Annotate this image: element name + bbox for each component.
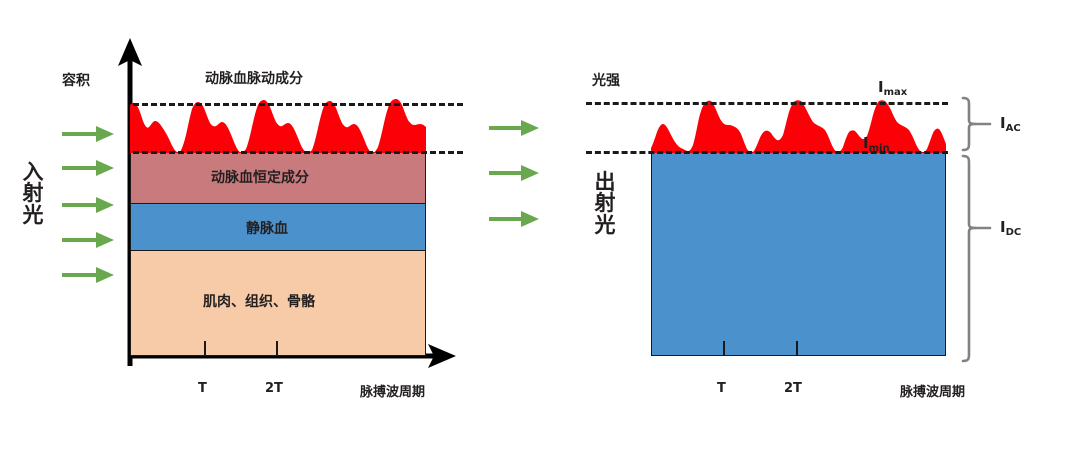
left-ticklabel-T: T <box>198 381 207 396</box>
incident-light-char-2: 射 <box>16 183 50 204</box>
layer-ac-intensity <box>651 100 946 153</box>
right-tick-T <box>723 341 725 355</box>
incident-light-label: 入 射 光 <box>16 162 50 226</box>
right-ticklabel-2T: 2T <box>784 381 802 396</box>
tissue-bone-label: 肌肉、组织、骨骼 <box>203 291 315 311</box>
transmitted-arrow-2 <box>489 165 539 181</box>
emitted-light-label: 出 射 光 <box>588 172 622 236</box>
imin-label: Imin <box>863 134 890 152</box>
left-peak-dashed-line <box>133 103 463 106</box>
right-y-axis-title: 光强 <box>592 70 620 90</box>
imax-symbol: I <box>878 78 884 96</box>
transmitted-arrow-1 <box>489 120 539 136</box>
arterial-pulsatile-label: 动脉血脉动成分 <box>205 68 303 88</box>
left-y-axis-title: 容积 <box>62 70 90 90</box>
idc-symbol: I <box>1000 218 1006 236</box>
incident-arrow-2 <box>62 160 114 176</box>
right-intensity-panel: 出 射 光 光强 Imax Imin <box>560 0 1080 450</box>
incident-arrow-1 <box>62 126 114 142</box>
layer-arterial-pulsatile <box>130 99 426 153</box>
iac-label: IAC <box>1000 114 1021 132</box>
idc-label: IDC <box>1000 218 1021 236</box>
iac-symbol: I <box>1000 114 1006 132</box>
imin-symbol: I <box>863 134 869 152</box>
left-ticklabel-2T: 2T <box>265 381 283 396</box>
imax-dashed-line <box>586 102 948 105</box>
imin-subscript: min <box>869 143 890 154</box>
left-x-axis-title: 脉搏波周期 <box>360 381 425 400</box>
right-x-axis-title: 脉搏波周期 <box>900 381 965 400</box>
ppg-waveform-left <box>130 99 426 153</box>
iac-bracket <box>963 98 976 150</box>
layer-dc-intensity <box>651 152 946 356</box>
emitted-light-char-1: 出 <box>588 172 622 193</box>
ppg-waveform-right <box>651 100 946 153</box>
imin-dashed-line <box>586 151 948 154</box>
imax-label: Imax <box>878 78 907 96</box>
emitted-light-char-3: 光 <box>588 215 622 236</box>
arterial-steady-label: 动脉血恒定成分 <box>211 167 309 187</box>
left-volume-panel: 入 射 光 <box>0 0 500 450</box>
left-trough-dashed-line <box>133 151 463 154</box>
idc-subscript: DC <box>1006 227 1022 238</box>
right-ticklabel-T: T <box>717 381 726 396</box>
right-tick-2T <box>796 341 798 355</box>
left-tick-2T <box>276 341 278 355</box>
incident-arrow-5 <box>62 267 114 283</box>
idc-bracket <box>963 156 976 361</box>
venous-blood-label: 静脉血 <box>246 218 288 238</box>
emitted-light-char-2: 射 <box>588 193 622 214</box>
transmitted-arrow-3 <box>489 211 539 227</box>
incident-arrow-4 <box>62 232 114 248</box>
incident-arrow-3 <box>62 197 114 213</box>
iac-subscript: AC <box>1006 123 1021 134</box>
ppg-principle-figure: 入 射 光 <box>0 0 1080 450</box>
incident-light-char-3: 光 <box>16 205 50 226</box>
incident-light-char-1: 入 <box>16 162 50 183</box>
imax-subscript: max <box>884 87 908 98</box>
transmitted-light-arrows <box>487 112 547 232</box>
left-tick-T <box>204 341 206 355</box>
incident-light-arrows <box>60 118 122 290</box>
